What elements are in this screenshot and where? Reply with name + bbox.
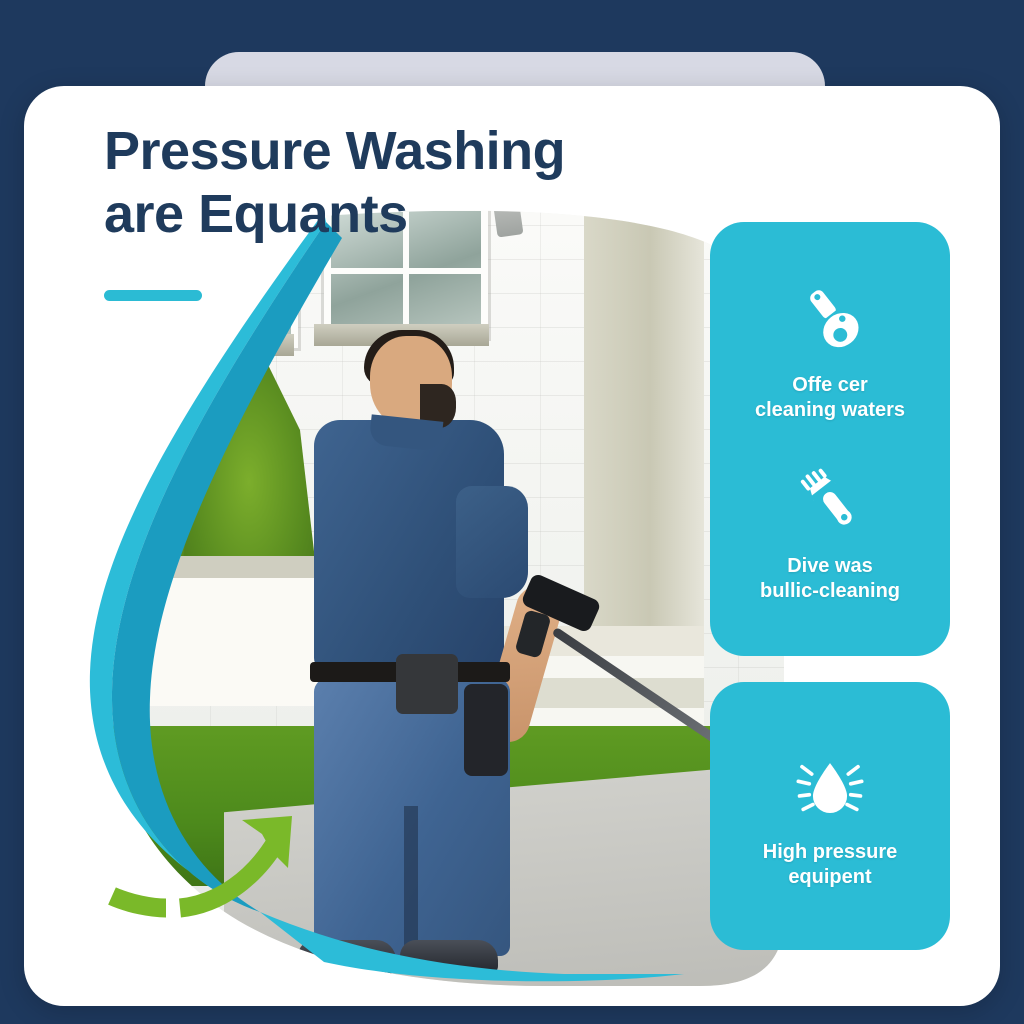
scrub-brush-icon <box>787 456 873 542</box>
poster-canvas: Pressure Washing are Equants <box>0 0 1024 1024</box>
window-mullion-vertical <box>233 263 239 341</box>
worker-sleeve <box>456 486 528 598</box>
window-mullion-horizontal <box>331 268 481 274</box>
feature-item-cleaning-waters[interactable]: Offe cer cleaning waters <box>724 275 936 423</box>
worker-shoe <box>298 940 396 974</box>
title-accent-bar <box>104 290 202 301</box>
lamp-post <box>94 336 104 516</box>
feature-label: Dive was bullic-cleaning <box>760 554 900 604</box>
worker-shoe <box>400 940 498 974</box>
feature-card-primary[interactable]: Offe cer cleaning waters <box>710 222 950 656</box>
title-line-1: Pressure Washing <box>104 121 565 181</box>
worker-tool-pouch <box>464 684 508 776</box>
feature-item-bullic-cleaning[interactable]: Dive was bullic-cleaning <box>724 456 936 604</box>
feature-label: High pressure equipent <box>763 840 897 890</box>
water-drop-rays-icon <box>787 742 873 828</box>
title-line-2: are Equants <box>104 183 704 246</box>
page-title: Pressure Washing are Equants <box>104 120 704 245</box>
feature-item-high-pressure[interactable]: High pressure equipent <box>724 742 936 890</box>
arrow-dash-segment <box>112 896 166 908</box>
worker-tool-pouch <box>396 654 458 714</box>
feature-label: Offe cer cleaning waters <box>755 373 905 423</box>
spray-nozzle-icon <box>787 275 873 361</box>
headline-block: Pressure Washing are Equants <box>104 120 704 245</box>
worker-leg-seam <box>404 806 418 956</box>
main-white-card: Pressure Washing are Equants <box>24 86 1000 1006</box>
feature-card-secondary[interactable]: High pressure equipent <box>710 682 950 950</box>
